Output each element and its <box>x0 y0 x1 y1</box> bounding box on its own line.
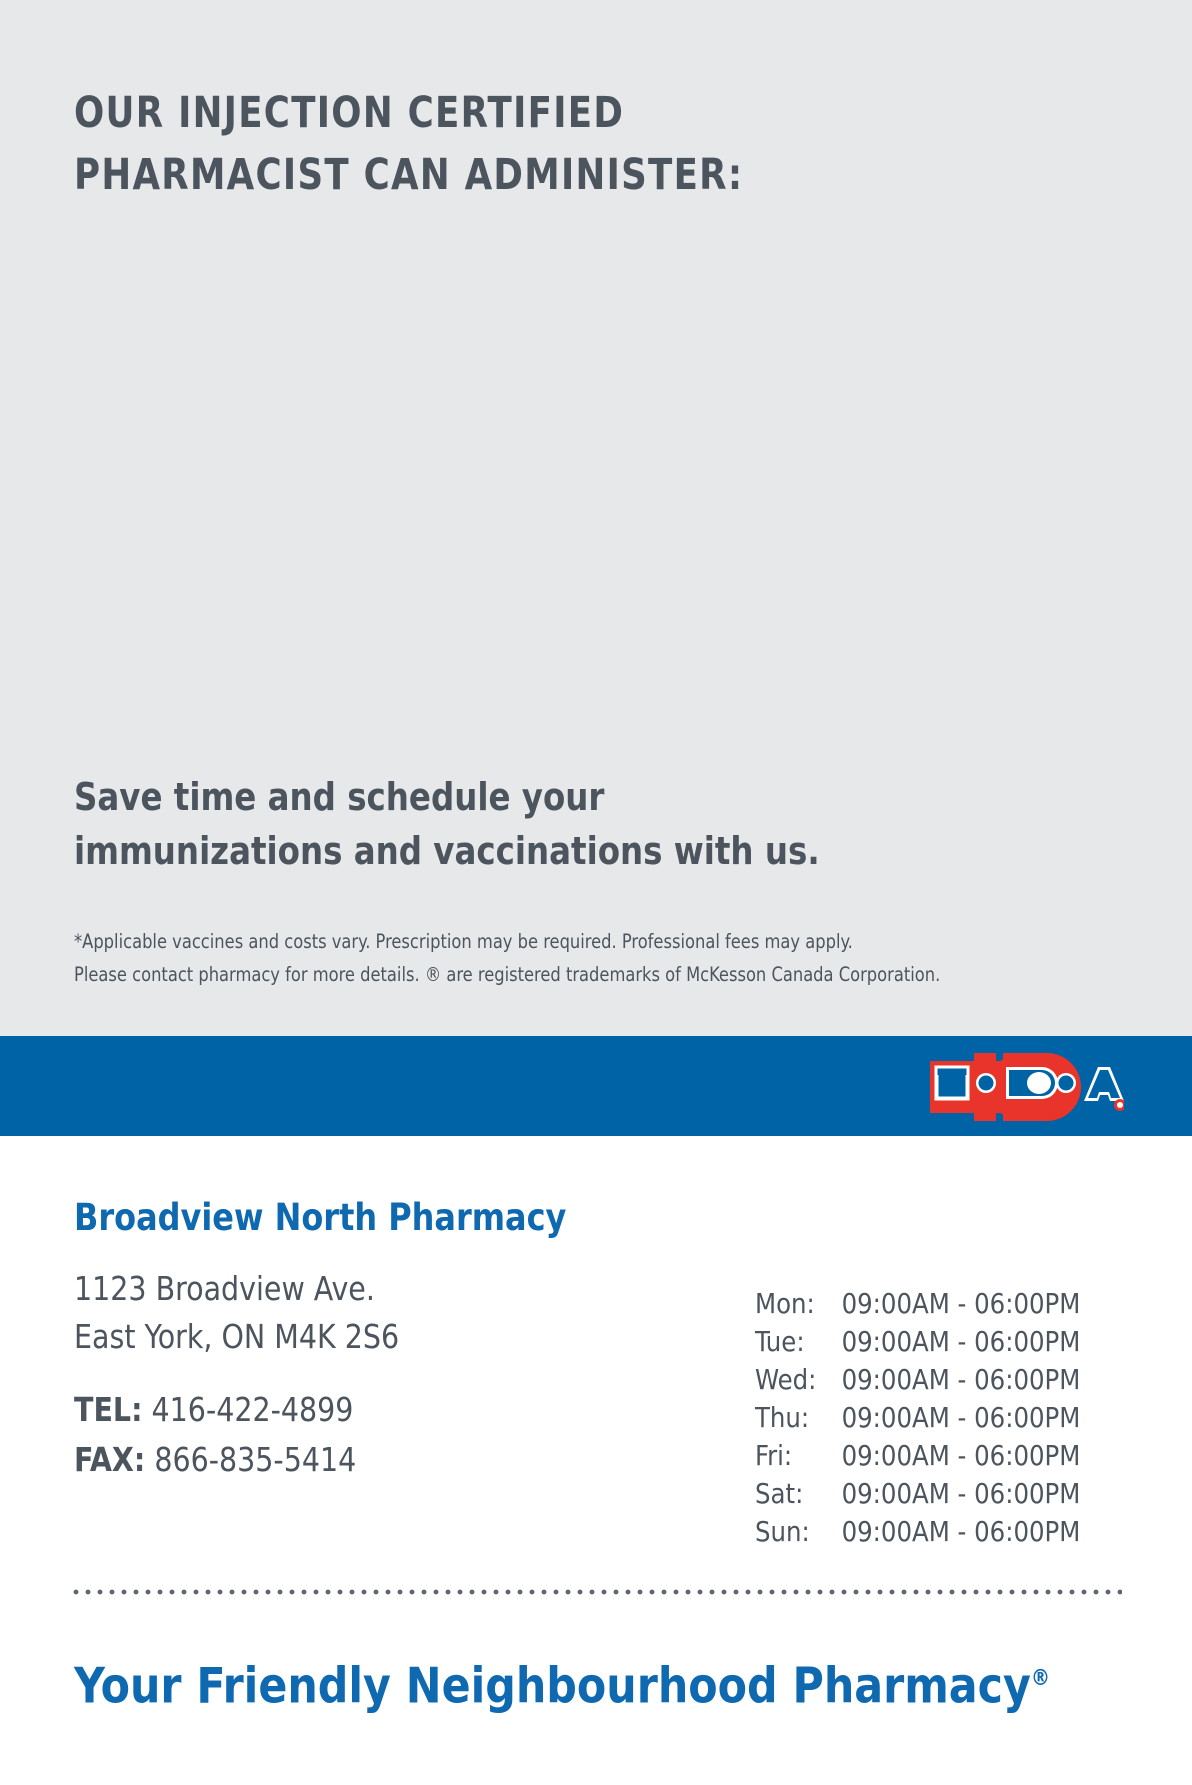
subheading-line-1: Save time and schedule your <box>74 770 910 824</box>
footer-tagline-text: Your Friendly Neighbourhood Pharmacy <box>74 1657 1031 1714</box>
fax-value: 866-835-5414 <box>154 1440 356 1479</box>
footer-tagline: Your Friendly Neighbourhood Pharmacy® <box>74 1648 1102 1717</box>
hours-day-thu: Thu: <box>755 1399 842 1437</box>
address-line-2: East York, ON M4K 2S6 <box>74 1313 399 1361</box>
table-row: Mon: 09:00AM - 06:00PM <box>755 1285 1080 1323</box>
headline-line-1: OUR INJECTION CERTIFIED <box>74 82 902 144</box>
store-hours-table: Mon: 09:00AM - 06:00PM Tue: 09:00AM - 06… <box>755 1285 1080 1551</box>
hours-time-sat: 09:00AM - 06:00PM <box>842 1475 1081 1513</box>
telephone-row: TEL: 416-422-4899 <box>74 1385 356 1435</box>
hours-day-mon: Mon: <box>755 1285 842 1323</box>
telephone-value[interactable]: 416-422-4899 <box>152 1390 354 1429</box>
hours-day-sun: Sun: <box>755 1513 842 1551</box>
artwork-placeholder <box>74 215 1118 670</box>
table-row: Wed: 09:00AM - 06:00PM <box>755 1361 1080 1399</box>
store-hours-body: Mon: 09:00AM - 06:00PM Tue: 09:00AM - 06… <box>755 1285 1080 1551</box>
hours-time-thu: 09:00AM - 06:00PM <box>842 1399 1081 1437</box>
page-title: OUR INJECTION CERTIFIED PHARMACIST CAN A… <box>74 82 902 206</box>
hours-time-mon: 09:00AM - 06:00PM <box>842 1285 1081 1323</box>
hours-time-tue: 09:00AM - 06:00PM <box>842 1323 1081 1361</box>
hours-time-sun: 09:00AM - 06:00PM <box>842 1513 1081 1551</box>
hours-time-wed: 09:00AM - 06:00PM <box>842 1361 1081 1399</box>
table-row: Sun: 09:00AM - 06:00PM <box>755 1513 1080 1551</box>
table-row: Fri: 09:00AM - 06:00PM <box>755 1437 1080 1475</box>
store-address: 1123 Broadview Ave. East York, ON M4K 2S… <box>74 1265 399 1361</box>
address-line-1: 1123 Broadview Ave. <box>74 1265 399 1313</box>
fax-label: FAX: <box>74 1440 145 1479</box>
table-row: Sat: 09:00AM - 06:00PM <box>755 1475 1080 1513</box>
top-panel: OUR INJECTION CERTIFIED PHARMACIST CAN A… <box>0 0 1192 1036</box>
disclaimer-line-1: *Applicable vaccines and costs vary. Pre… <box>74 925 1060 958</box>
disclaimer-line-2: Please contact pharmacy for more details… <box>74 958 1060 991</box>
hours-day-wed: Wed: <box>755 1361 842 1399</box>
hours-day-sat: Sat: <box>755 1475 842 1513</box>
table-row: Tue: 09:00AM - 06:00PM <box>755 1323 1080 1361</box>
fax-row: FAX: 866-835-5414 <box>74 1435 356 1485</box>
disclaimer-text: *Applicable vaccines and costs vary. Pre… <box>74 925 1060 991</box>
ida-logo <box>924 1045 1124 1121</box>
flyer-page: OUR INJECTION CERTIFIED PHARMACIST CAN A… <box>0 0 1192 1785</box>
table-row: Thu: 09:00AM - 06:00PM <box>755 1399 1080 1437</box>
hours-day-tue: Tue: <box>755 1323 842 1361</box>
telephone-label: TEL: <box>74 1390 142 1429</box>
headline-line-2: PHARMACIST CAN ADMINISTER: <box>74 144 902 206</box>
store-contact: TEL: 416-422-4899 FAX: 866-835-5414 <box>74 1385 356 1485</box>
hours-day-fri: Fri: <box>755 1437 842 1475</box>
hours-time-fri: 09:00AM - 06:00PM <box>842 1437 1081 1475</box>
dotted-divider <box>70 1589 1122 1595</box>
subheading-line-2: immunizations and vaccinations with us. <box>74 824 910 878</box>
pharmacy-name: Broadview North Pharmacy <box>74 1196 566 1240</box>
subheading: Save time and schedule your immunization… <box>74 770 910 878</box>
registered-mark-icon: ® <box>1031 1666 1050 1691</box>
